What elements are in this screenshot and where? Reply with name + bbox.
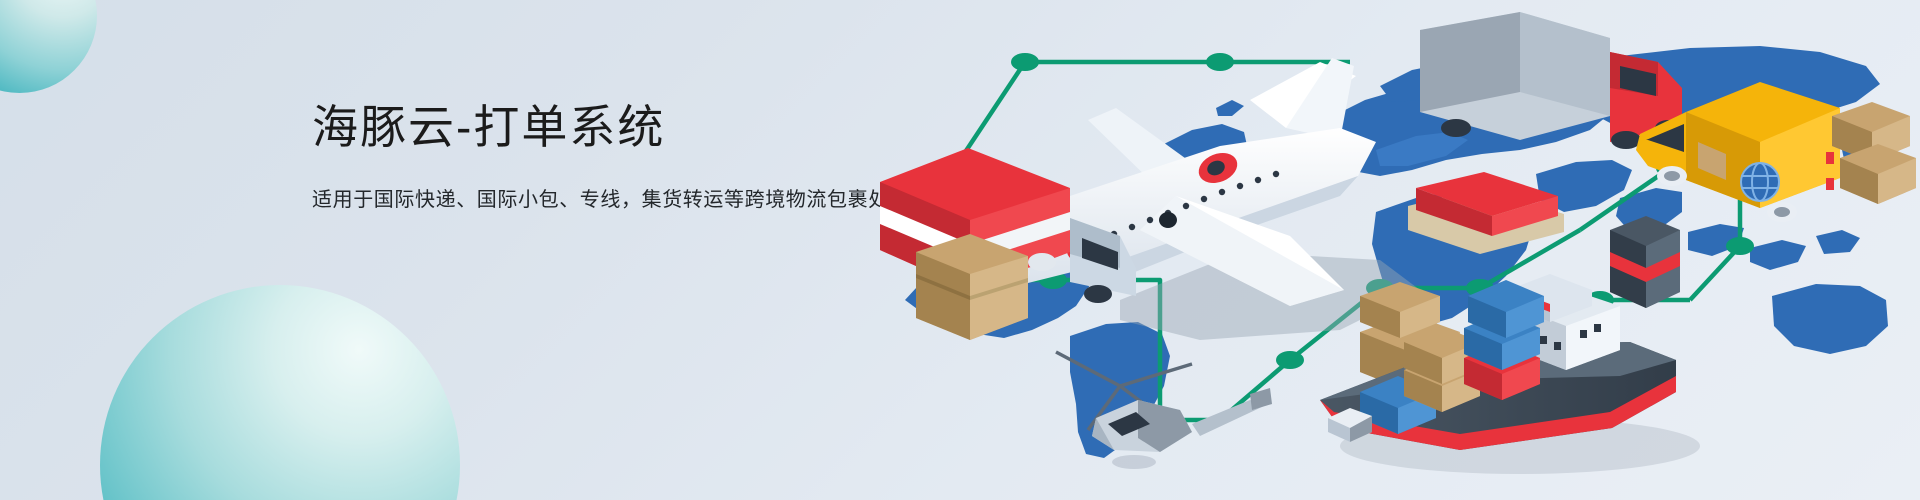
top-left-circle-decoration xyxy=(0,0,97,93)
bottom-left-circle-decoration xyxy=(100,285,460,500)
global-logistics-illustration xyxy=(820,0,1920,500)
hero-banner: 海豚云-打单系统 适用于国际快递、国际小包、专线，集货转运等跨境物流包裹处理 xyxy=(0,0,1920,500)
cardboard-boxes-left xyxy=(916,234,1028,340)
red-semi-trailer-truck xyxy=(880,148,1136,340)
